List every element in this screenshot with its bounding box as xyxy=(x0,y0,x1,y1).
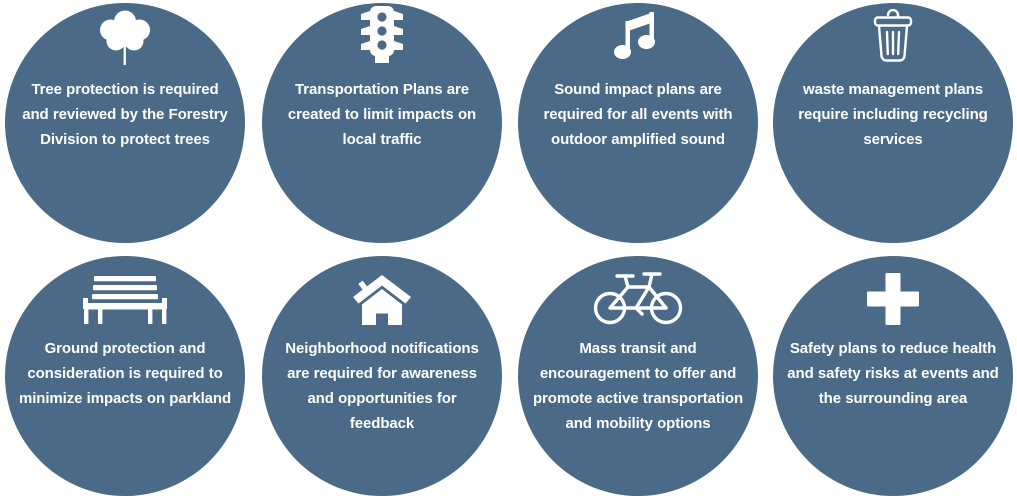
badge-transportation-plans[interactable]: Transportation Plans are created to limi… xyxy=(262,3,502,243)
badge-neighborhood-notifications[interactable]: Neighborhood notifications are required … xyxy=(262,256,502,496)
badge-caption: waste management plans require including… xyxy=(785,77,1001,152)
badge-caption: Mass transit and encouragement to offer … xyxy=(530,336,746,436)
badge-mass-transit[interactable]: Mass transit and encouragement to offer … xyxy=(518,256,758,496)
badge-caption: Ground protection and consideration is r… xyxy=(17,336,233,411)
bicycle-icon xyxy=(518,256,758,326)
park-bench-icon xyxy=(5,256,245,326)
trash-can-icon xyxy=(773,3,1013,65)
infographic-board: Tree protection is required and reviewed… xyxy=(0,0,1017,499)
traffic-light-icon xyxy=(262,3,502,65)
badge-caption: Safety plans to reduce health and safety… xyxy=(785,336,1001,411)
badge-tree-protection[interactable]: Tree protection is required and reviewed… xyxy=(5,3,245,243)
badge-ground-protection[interactable]: Ground protection and consideration is r… xyxy=(5,256,245,496)
badge-caption: Transportation Plans are created to limi… xyxy=(274,77,490,152)
badge-sound-impact[interactable]: Sound impact plans are required for all … xyxy=(518,3,758,243)
badge-caption: Neighborhood notifications are required … xyxy=(274,336,490,436)
tree-icon xyxy=(5,3,245,65)
badge-caption: Sound impact plans are required for all … xyxy=(530,77,746,152)
badge-caption: Tree protection is required and reviewed… xyxy=(17,77,233,152)
badge-waste-management[interactable]: waste management plans require including… xyxy=(773,3,1013,243)
medical-cross-icon xyxy=(773,256,1013,326)
badge-safety-plans[interactable]: Safety plans to reduce health and safety… xyxy=(773,256,1013,496)
house-icon xyxy=(262,256,502,326)
music-note-icon xyxy=(518,3,758,65)
